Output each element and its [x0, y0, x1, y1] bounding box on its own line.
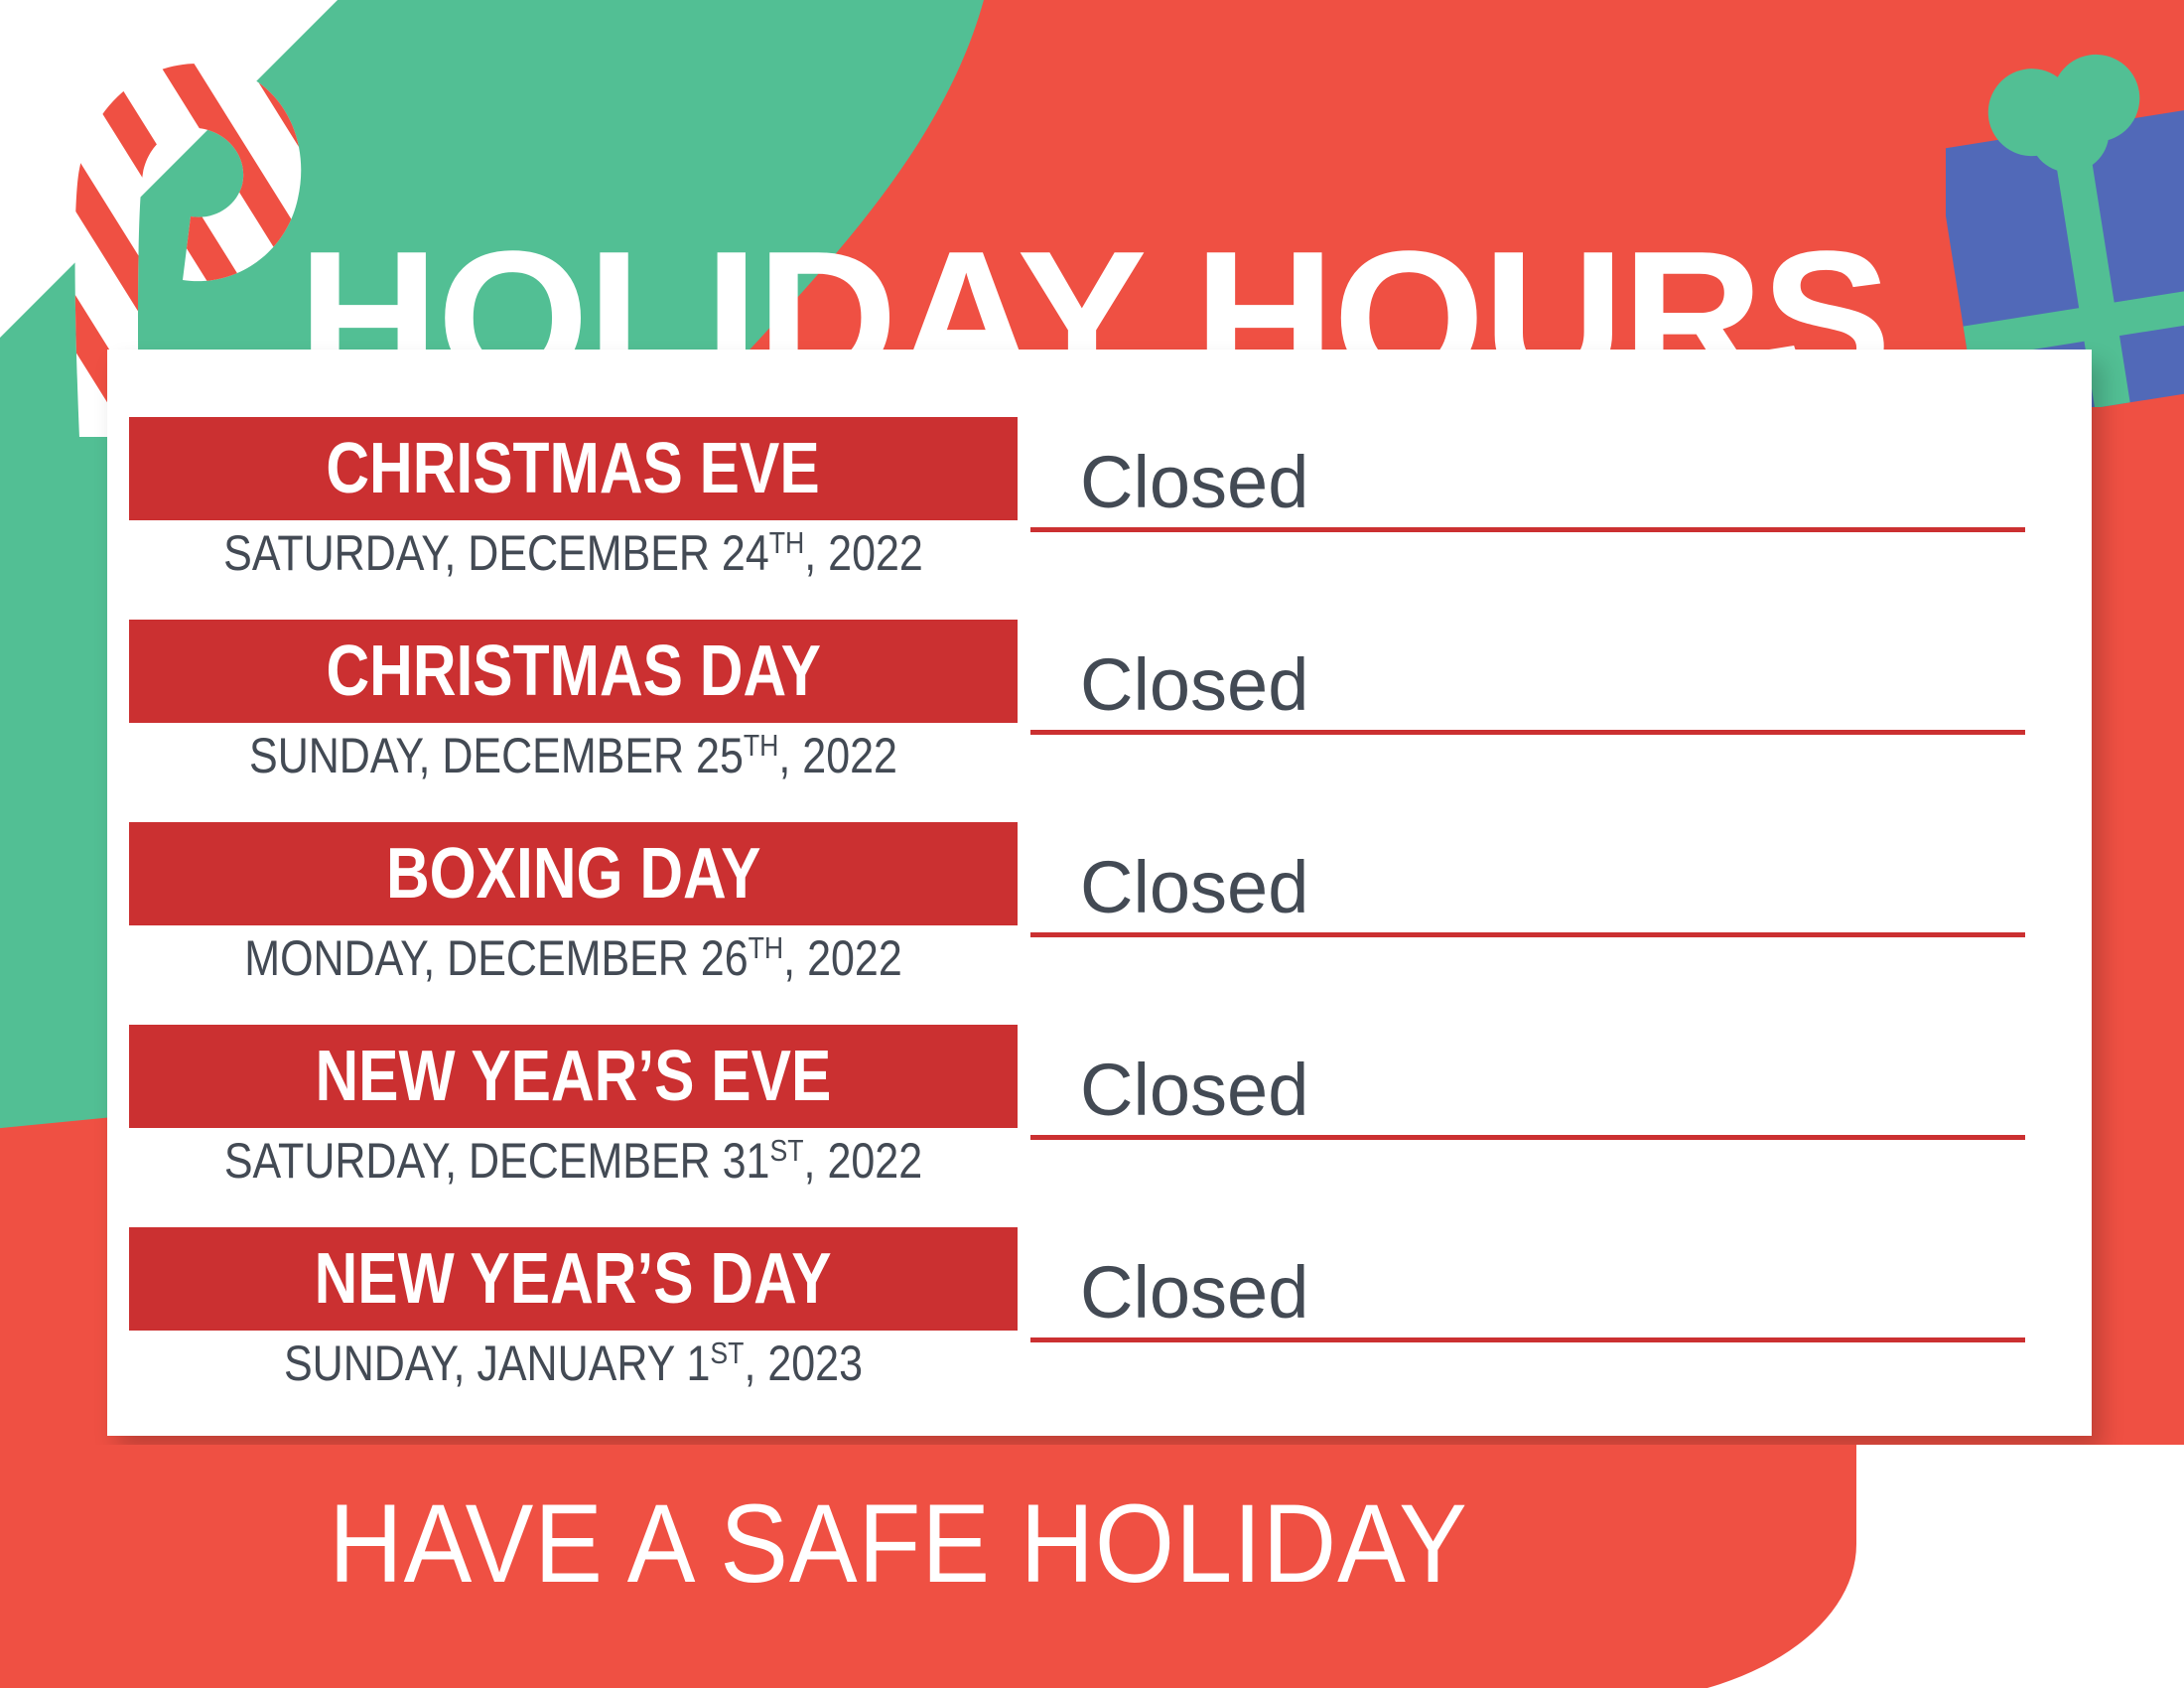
hours-underline	[1030, 1337, 2025, 1342]
table-row: CHRISTMAS EVE SATURDAY, DECEMBER 24TH, 2…	[107, 417, 2092, 624]
date-prefix: SUNDAY, DECEMBER 25	[249, 728, 744, 783]
hours-card: CHRISTMAS EVE SATURDAY, DECEMBER 24TH, 2…	[107, 350, 2092, 1436]
hours-cell: Closed	[1030, 1019, 2033, 1140]
date-ordinal: ST	[769, 1133, 803, 1168]
holiday-date-label: SATURDAY, DECEMBER 31ST, 2022	[192, 1132, 956, 1190]
date-prefix: SATURDAY, DECEMBER 31	[224, 1133, 770, 1189]
date-ordinal: TH	[744, 728, 779, 763]
holiday-date-label: MONDAY, DECEMBER 26TH, 2022	[192, 929, 956, 987]
table-row: CHRISTMAS DAY SUNDAY, DECEMBER 25TH, 202…	[107, 620, 2092, 826]
holiday-name-label: NEW YEAR’S DAY	[315, 1238, 832, 1320]
hours-cell: Closed	[1030, 1221, 2033, 1342]
footer-message: HAVE A SAFE HOLIDAY	[71, 1479, 1724, 1608]
hours-underline	[1030, 527, 2025, 532]
holiday-name-badge: NEW YEAR’S EVE	[129, 1025, 1018, 1128]
date-ordinal: ST	[710, 1336, 744, 1370]
date-suffix: , 2022	[778, 728, 897, 783]
hours-underline	[1030, 932, 2025, 937]
date-prefix: SATURDAY, DECEMBER 24	[223, 525, 769, 581]
holiday-name-label: CHRISTMAS EVE	[327, 428, 820, 509]
hours-value: Closed	[1080, 1250, 1308, 1335]
holiday-name-label: NEW YEAR’S EVE	[316, 1036, 832, 1117]
holiday-date-label: SUNDAY, DECEMBER 25TH, 2022	[192, 727, 956, 784]
hours-value: Closed	[1080, 642, 1308, 727]
holiday-name-badge: CHRISTMAS EVE	[129, 417, 1018, 520]
holiday-name-badge: NEW YEAR’S DAY	[129, 1227, 1018, 1331]
date-suffix: , 2022	[804, 525, 923, 581]
holiday-hours-poster: HOLIDAY HOURS CHRISTMAS EVE SATURDAY, DE…	[0, 0, 2184, 1688]
hours-cell: Closed	[1030, 614, 2033, 735]
hours-underline	[1030, 730, 2025, 735]
date-prefix: SUNDAY, JANUARY 1	[284, 1336, 710, 1391]
hours-underline	[1030, 1135, 2025, 1140]
hours-value: Closed	[1080, 440, 1308, 524]
date-ordinal: TH	[769, 525, 805, 560]
date-suffix: , 2022	[783, 930, 902, 986]
table-row: NEW YEAR’S EVE SATURDAY, DECEMBER 31ST, …	[107, 1025, 2092, 1231]
date-suffix: , 2022	[804, 1133, 923, 1189]
table-row: BOXING DAY MONDAY, DECEMBER 26TH, 2022 C…	[107, 822, 2092, 1029]
hours-value: Closed	[1080, 1048, 1308, 1132]
hours-value: Closed	[1080, 845, 1308, 929]
holiday-name-badge: BOXING DAY	[129, 822, 1018, 925]
hours-cell: Closed	[1030, 816, 2033, 937]
holiday-date-label: SATURDAY, DECEMBER 24TH, 2022	[192, 524, 956, 582]
holiday-name-label: CHRISTMAS DAY	[326, 631, 820, 712]
date-suffix: , 2023	[744, 1336, 863, 1391]
holiday-name-badge: CHRISTMAS DAY	[129, 620, 1018, 723]
date-ordinal: TH	[749, 930, 784, 965]
hours-cell: Closed	[1030, 411, 2033, 532]
holiday-name-label: BOXING DAY	[386, 833, 761, 914]
schedule-table: CHRISTMAS EVE SATURDAY, DECEMBER 24TH, 2…	[107, 350, 2092, 1436]
holiday-date-label: SUNDAY, JANUARY 1ST, 2023	[192, 1335, 956, 1392]
date-prefix: MONDAY, DECEMBER 26	[244, 930, 748, 986]
table-row: NEW YEAR’S DAY SUNDAY, JANUARY 1ST, 2023…	[107, 1227, 2092, 1434]
